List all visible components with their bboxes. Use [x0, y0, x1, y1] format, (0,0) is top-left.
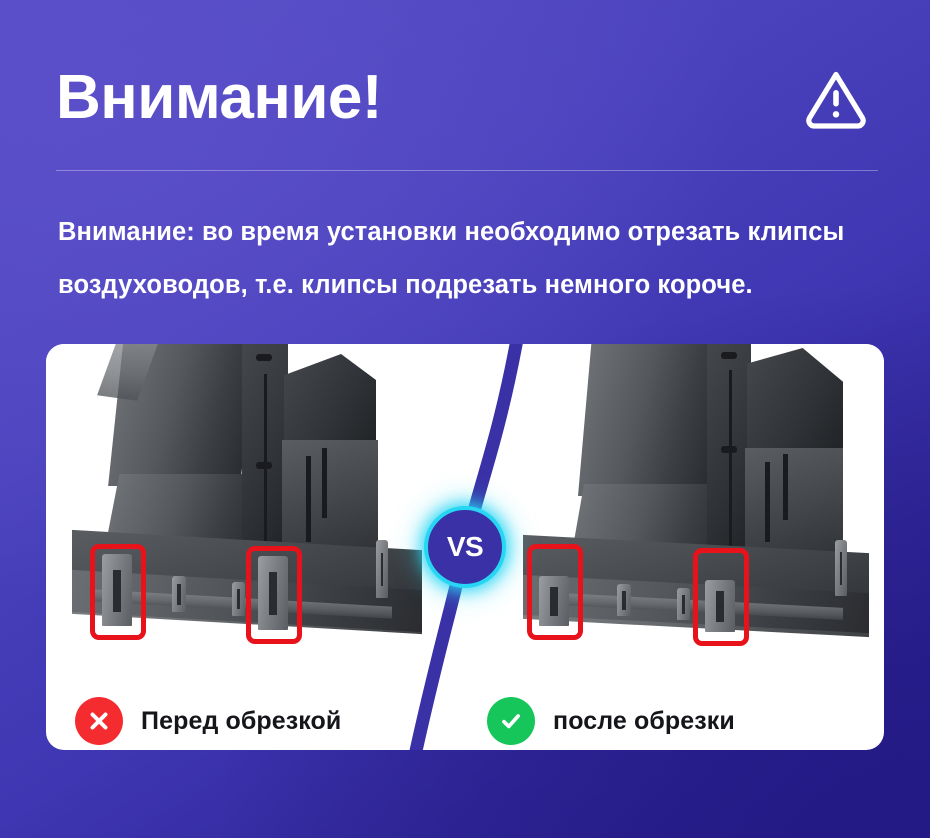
- instruction-text: Внимание: во время установки необходимо …: [58, 206, 882, 312]
- before-label-group: Перед обрезкой: [75, 692, 341, 750]
- page-title: Внимание!: [56, 67, 382, 129]
- comparison-card: Перед обрезкой: [46, 344, 884, 750]
- vs-label: VS: [447, 533, 483, 561]
- before-pane: Перед обрезкой: [46, 344, 465, 750]
- header-divider: [56, 170, 878, 171]
- check-icon: [487, 697, 535, 745]
- attention-poster: Внимание! Внимание: во время установки н…: [0, 0, 930, 838]
- warning-triangle-icon: [804, 66, 868, 130]
- cross-icon: [75, 697, 123, 745]
- poster-header: Внимание!: [56, 46, 878, 150]
- after-label: после обрезки: [553, 707, 735, 736]
- after-photo: [465, 344, 884, 692]
- highlight-box: [693, 548, 749, 646]
- highlight-box: [527, 544, 583, 640]
- before-photo: [46, 344, 465, 692]
- highlight-box: [90, 544, 146, 640]
- before-label: Перед обрезкой: [141, 707, 341, 736]
- after-pane: после обрезки: [465, 344, 884, 750]
- highlight-box: [246, 546, 302, 644]
- vs-badge: VS: [424, 506, 506, 588]
- after-label-group: после обрезки: [487, 692, 735, 750]
